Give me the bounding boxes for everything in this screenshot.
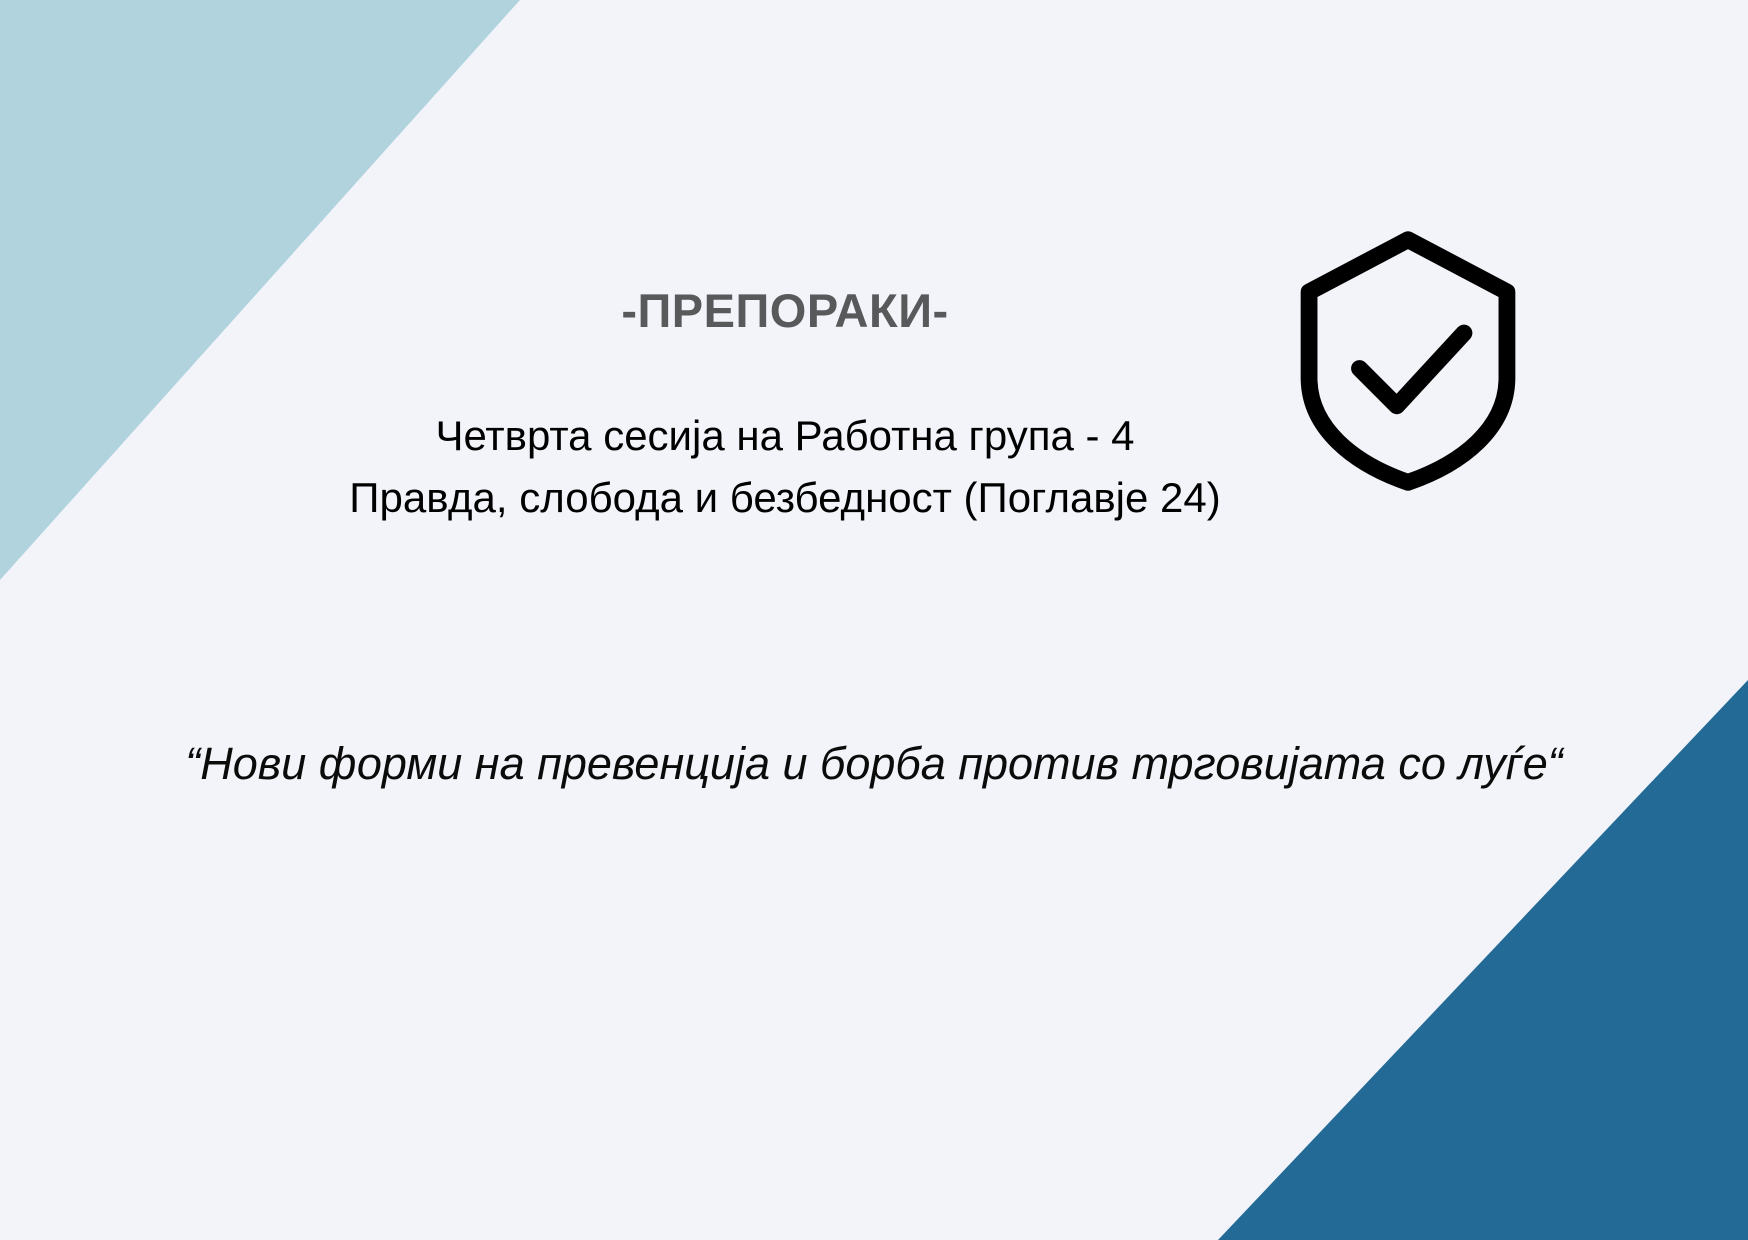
slide-root: -ПРЕПОРАКИ- Четврта сесија на Работна гр… [0, 0, 1748, 1240]
quote-text: “Нови форми на превенција и борба против… [0, 738, 1748, 790]
subtitle-line-1: Четврта сесија на Работна група - 4 [0, 405, 1570, 467]
page-title: -ПРЕПОРАКИ- [0, 283, 1570, 338]
subtitle-block: Четврта сесија на Работна група - 4 Прав… [0, 405, 1570, 529]
slide-content: -ПРЕПОРАКИ- Четврта сесија на Работна гр… [0, 0, 1748, 1240]
subtitle-line-2: Правда, слобода и безбедност (Поглавје 2… [0, 467, 1570, 529]
